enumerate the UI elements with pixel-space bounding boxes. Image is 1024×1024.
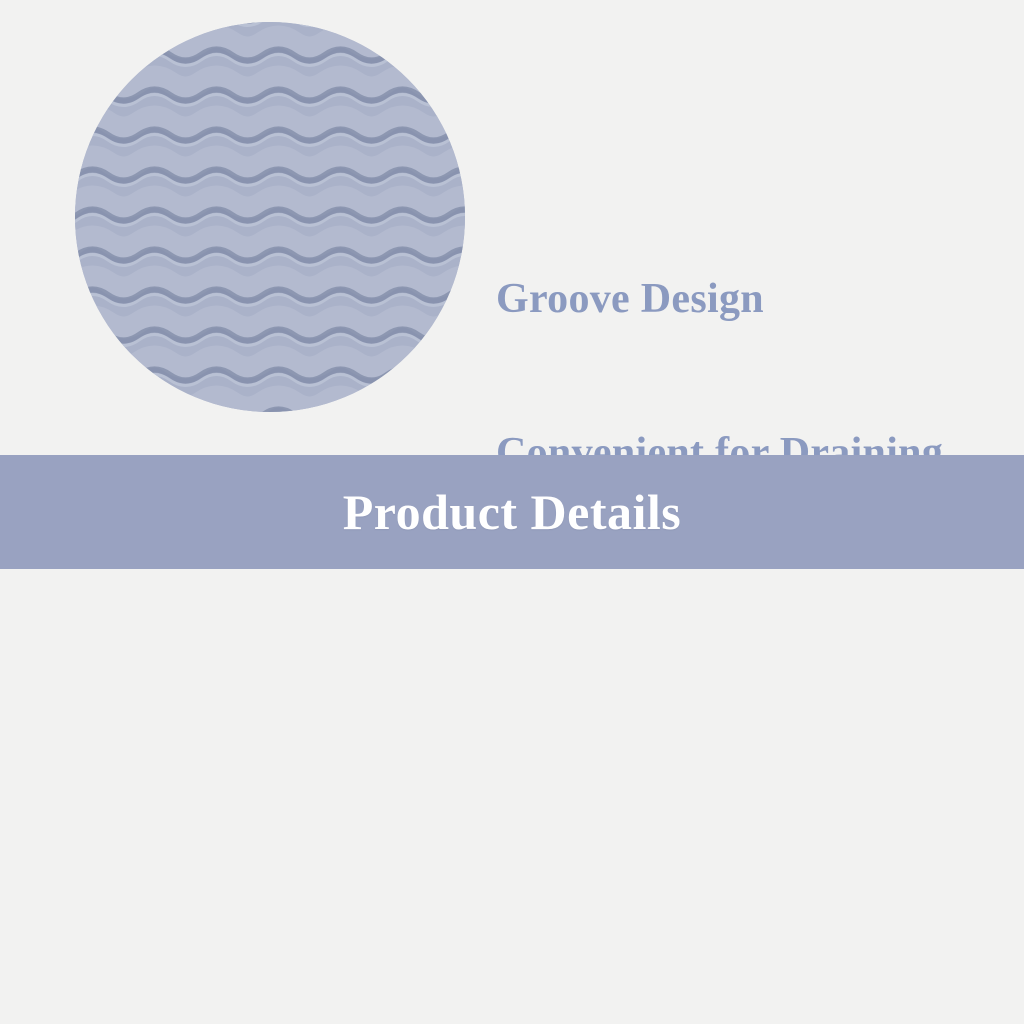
wavy-groove-texture [75,22,465,412]
top-feature-section: Groove Design Convenient for Draining [0,0,1024,455]
banner-title: Product Details [343,487,681,537]
product-details-banner: Product Details [0,455,1024,569]
groove-texture-closeup [75,22,465,412]
top-caption-line-1: Groove Design [496,274,943,325]
bottom-feature-section: Raised Edges Prevent Wetting the Table [0,569,1024,1024]
product-detail-image: Groove Design Convenient for Draining Pr… [0,0,1024,1024]
